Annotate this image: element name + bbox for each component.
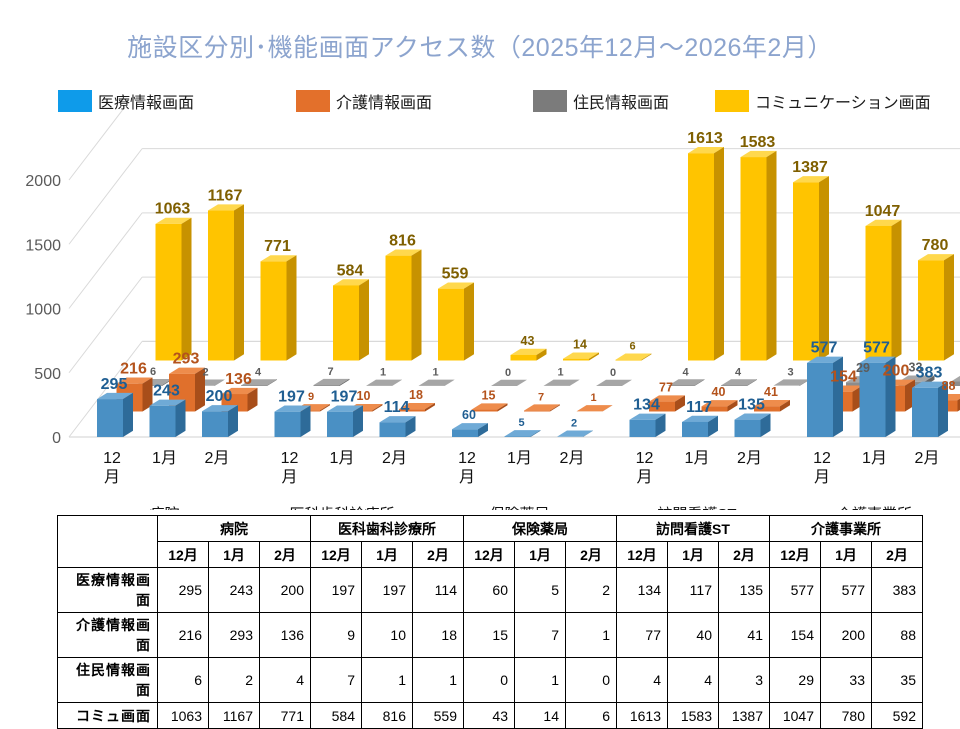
svg-text:577: 577 — [811, 340, 838, 357]
table-cell: 243 — [209, 568, 260, 613]
svg-text:584: 584 — [337, 262, 364, 279]
table-cell: 3 — [719, 658, 770, 703]
table-row: 介護情報画面21629313691018157177404115420088 — [58, 613, 923, 658]
svg-text:1387: 1387 — [792, 159, 828, 176]
svg-text:14: 14 — [573, 338, 587, 352]
table-cell: 559 — [413, 703, 464, 729]
svg-text:1月: 1月 — [507, 450, 532, 467]
svg-text:2月: 2月 — [205, 450, 230, 467]
legend-swatch-medical — [58, 90, 92, 112]
svg-text:1063: 1063 — [155, 201, 191, 218]
svg-text:2: 2 — [202, 367, 208, 379]
svg-text:12: 12 — [458, 450, 476, 467]
table-cell: 2 — [209, 658, 260, 703]
chart-group-labels: 病院医科歯科診療所保険薬局訪問看護ST介護事業所 — [149, 505, 912, 510]
table-cell: 592 — [872, 703, 923, 729]
table-cell: 0 — [464, 658, 515, 703]
table-cell: 18 — [413, 613, 464, 658]
table-cell: 1047 — [770, 703, 821, 729]
data-table: 病院医科歯科診療所保険薬局訪問看護ST介護事業所 12月1月2月12月1月2月1… — [57, 515, 923, 729]
svg-text:月: 月 — [814, 469, 830, 486]
table-cell: 577 — [821, 568, 872, 613]
table-cell: 5 — [515, 568, 566, 613]
table-group-header: 訪問看護ST — [617, 516, 770, 542]
svg-text:29: 29 — [856, 361, 870, 375]
table-cell: 0 — [566, 658, 617, 703]
table-cell: 1 — [566, 613, 617, 658]
svg-text:134: 134 — [633, 397, 660, 414]
bar-3d — [333, 279, 369, 360]
bar-3d — [735, 413, 771, 437]
svg-text:1月: 1月 — [152, 450, 177, 467]
group-label: 訪問看護ST — [657, 506, 736, 510]
table-cell: 154 — [770, 613, 821, 658]
svg-text:41: 41 — [764, 385, 778, 399]
table-cell: 114 — [413, 568, 464, 613]
svg-text:5: 5 — [518, 417, 524, 429]
svg-text:9: 9 — [308, 391, 314, 403]
svg-text:2月: 2月 — [737, 450, 762, 467]
table-cell: 383 — [872, 568, 923, 613]
table-cell: 77 — [617, 613, 668, 658]
svg-text:1500: 1500 — [25, 237, 61, 254]
table-body: 医療情報画面2952432001971971146052134117135577… — [58, 568, 923, 729]
bar-3d — [774, 379, 810, 386]
svg-text:117: 117 — [686, 399, 712, 416]
table-cell: 43 — [464, 703, 515, 729]
table-month-header: 1月 — [209, 542, 260, 568]
table-cell: 4 — [260, 658, 311, 703]
table-cell: 1387 — [719, 703, 770, 729]
group-label: 医科歯科診療所 — [289, 506, 394, 510]
table-row: 住民情報画面624711010443293335 — [58, 658, 923, 703]
table-month-header: 2月 — [260, 542, 311, 568]
svg-text:6: 6 — [150, 366, 156, 378]
bar-3d — [472, 403, 508, 411]
bar-3d — [596, 380, 632, 386]
table-cell: 1 — [413, 658, 464, 703]
bar-3d — [491, 380, 527, 386]
bar-3d — [630, 414, 666, 437]
bar-3d — [419, 380, 455, 386]
bar-3d — [577, 405, 613, 411]
svg-text:136: 136 — [225, 371, 252, 388]
table-cell: 771 — [260, 703, 311, 729]
bar-3d — [511, 349, 547, 361]
table-row: コミュ画面10631167771584816559431461613158313… — [58, 703, 923, 729]
svg-text:15: 15 — [482, 388, 496, 402]
svg-text:197: 197 — [278, 388, 305, 405]
bar-3d — [261, 255, 297, 360]
table-cell: 135 — [719, 568, 770, 613]
chart-category-labels: 12月1月2月12月1月2月12月1月2月12月1月2月12月1月2月 — [103, 450, 939, 486]
svg-text:1: 1 — [380, 367, 386, 379]
table-cell: 1613 — [617, 703, 668, 729]
svg-text:43: 43 — [521, 334, 535, 348]
svg-text:7: 7 — [327, 366, 333, 378]
svg-text:12: 12 — [813, 450, 831, 467]
svg-text:40: 40 — [712, 385, 726, 399]
svg-text:18: 18 — [409, 388, 423, 402]
svg-text:0: 0 — [610, 367, 616, 379]
table-cell: 1167 — [209, 703, 260, 729]
legend-swatch-comm — [715, 90, 749, 112]
svg-text:月: 月 — [104, 469, 120, 486]
svg-text:577: 577 — [863, 340, 890, 357]
svg-text:780: 780 — [922, 237, 949, 254]
table-cell: 577 — [770, 568, 821, 613]
svg-text:88: 88 — [942, 379, 956, 393]
table-row: 医療情報画面2952432001971971146052134117135577… — [58, 568, 923, 613]
table-month-header: 1月 — [515, 542, 566, 568]
table-cell: 197 — [362, 568, 413, 613]
svg-text:771: 771 — [264, 238, 291, 255]
table-cell: 88 — [872, 613, 923, 658]
svg-text:200: 200 — [206, 388, 233, 405]
table-cell: 216 — [158, 613, 209, 658]
svg-text:2000: 2000 — [25, 173, 61, 190]
chart-page: 施設区分別･機能画面アクセス数（2025年12月～2026年2月） 医療情報画面… — [0, 0, 960, 720]
svg-text:1000: 1000 — [25, 302, 61, 319]
svg-text:月: 月 — [636, 469, 652, 486]
bar-3d — [741, 151, 777, 361]
svg-text:4: 4 — [255, 366, 262, 378]
table-cell: 35 — [872, 658, 923, 703]
svg-text:12: 12 — [103, 450, 121, 467]
table-cell: 14 — [515, 703, 566, 729]
svg-text:295: 295 — [101, 376, 128, 393]
svg-text:2: 2 — [571, 418, 577, 430]
table-row-label: 介護情報画面 — [58, 613, 158, 658]
bar-3d — [386, 249, 422, 360]
svg-text:1月: 1月 — [330, 450, 355, 467]
table-cell: 10 — [362, 613, 413, 658]
bar-3d — [327, 405, 363, 437]
svg-text:4: 4 — [682, 366, 689, 378]
svg-text:2月: 2月 — [560, 450, 585, 467]
table-month-header: 12月 — [770, 542, 821, 568]
table-row-label: コミュ画面 — [58, 703, 158, 729]
table-cell: 40 — [668, 613, 719, 658]
bar-3d — [97, 393, 133, 437]
svg-text:4: 4 — [735, 366, 742, 378]
svg-text:1: 1 — [590, 392, 596, 404]
bar-3d — [150, 400, 186, 437]
table-cell: 1 — [515, 658, 566, 703]
table-cell: 816 — [362, 703, 413, 729]
table-month-header: 2月 — [413, 542, 464, 568]
svg-text:1月: 1月 — [685, 450, 710, 467]
svg-text:2月: 2月 — [382, 450, 407, 467]
table-cell: 584 — [311, 703, 362, 729]
svg-text:77: 77 — [659, 380, 673, 394]
table-cell: 4 — [617, 658, 668, 703]
table-month-header: 2月 — [566, 542, 617, 568]
bar-chart-3d: 0500100015002000 10631167771584816559431… — [0, 110, 960, 510]
table-cell: 7 — [311, 658, 362, 703]
table-cell: 117 — [668, 568, 719, 613]
bar-3d — [918, 254, 954, 360]
svg-text:383: 383 — [916, 365, 943, 382]
table-row-label: 住民情報画面 — [58, 658, 158, 703]
svg-text:559: 559 — [442, 265, 469, 282]
page-title: 施設区分別･機能画面アクセス数（2025年12月～2026年2月） — [0, 28, 960, 64]
svg-text:243: 243 — [153, 383, 180, 400]
bar-3d — [202, 405, 238, 437]
table-header-months: 12月1月2月12月1月2月12月1月2月12月1月2月12月1月2月 — [58, 542, 923, 568]
bar-3d — [563, 353, 599, 361]
svg-text:3: 3 — [787, 366, 793, 378]
bar-3d — [314, 379, 350, 386]
svg-text:1613: 1613 — [687, 130, 723, 147]
table-cell: 6 — [566, 703, 617, 729]
table-cell: 780 — [821, 703, 872, 729]
svg-text:1月: 1月 — [862, 450, 887, 467]
bar-3d — [366, 380, 402, 386]
bar-3d — [669, 379, 705, 386]
table-cell: 197 — [311, 568, 362, 613]
table-corner-cell — [58, 516, 158, 568]
svg-text:500: 500 — [34, 366, 61, 383]
table-cell: 6 — [158, 658, 209, 703]
table-group-header: 医科歯科診療所 — [311, 516, 464, 542]
bar-3d — [524, 404, 560, 411]
table-cell: 29 — [770, 658, 821, 703]
svg-text:月: 月 — [281, 469, 297, 486]
table-month-header: 12月 — [158, 542, 209, 568]
table-cell: 1 — [362, 658, 413, 703]
table-cell: 293 — [209, 613, 260, 658]
bar-3d — [682, 416, 718, 437]
bar-3d — [452, 423, 488, 437]
table-cell: 9 — [311, 613, 362, 658]
table-month-header: 2月 — [872, 542, 923, 568]
svg-text:10: 10 — [357, 389, 371, 403]
svg-text:1: 1 — [557, 367, 563, 379]
table-header-groups: 病院医科歯科診療所保険薬局訪問看護ST介護事業所 — [58, 516, 923, 542]
svg-text:12: 12 — [636, 450, 654, 467]
svg-text:1583: 1583 — [740, 134, 776, 151]
svg-text:154: 154 — [830, 369, 857, 386]
svg-text:2月: 2月 — [915, 450, 940, 467]
bar-3d — [156, 218, 192, 361]
table-cell: 134 — [617, 568, 668, 613]
svg-text:135: 135 — [738, 396, 765, 413]
bar-3d — [688, 147, 724, 360]
svg-text:197: 197 — [331, 388, 358, 405]
bar-3d — [380, 416, 416, 437]
bar-3d — [557, 431, 593, 437]
svg-text:6: 6 — [629, 341, 635, 353]
table-cell: 4 — [668, 658, 719, 703]
table-cell: 200 — [821, 613, 872, 658]
table-cell: 33 — [821, 658, 872, 703]
svg-text:200: 200 — [883, 363, 910, 380]
bar-3d — [208, 204, 244, 360]
legend-swatch-care — [296, 90, 330, 112]
table-cell: 1063 — [158, 703, 209, 729]
bar-3d — [616, 354, 652, 361]
table-row-label: 医療情報画面 — [58, 568, 158, 613]
table-group-header: 病院 — [158, 516, 311, 542]
svg-text:12: 12 — [281, 450, 299, 467]
bar-3d — [505, 430, 541, 437]
bar-3d — [544, 380, 580, 386]
svg-text:114: 114 — [384, 399, 410, 416]
bar-3d — [793, 176, 829, 360]
table-month-header: 1月 — [362, 542, 413, 568]
table-cell: 136 — [260, 613, 311, 658]
svg-text:60: 60 — [462, 408, 476, 422]
table-cell: 41 — [719, 613, 770, 658]
table-month-header: 12月 — [311, 542, 362, 568]
table-month-header: 1月 — [821, 542, 872, 568]
table-month-header: 2月 — [719, 542, 770, 568]
svg-text:1167: 1167 — [208, 187, 243, 204]
table-cell: 1583 — [668, 703, 719, 729]
table-month-header: 12月 — [464, 542, 515, 568]
svg-text:0: 0 — [505, 367, 511, 379]
svg-text:1047: 1047 — [865, 203, 901, 220]
table-cell: 2 — [566, 568, 617, 613]
bar-3d — [438, 282, 474, 360]
table-group-header: 保険薬局 — [464, 516, 617, 542]
group-label: 病院 — [149, 505, 179, 510]
chart-y-axis-ticks: 0500100015002000 — [25, 173, 61, 447]
bar-3d — [721, 379, 757, 386]
svg-text:1: 1 — [432, 367, 438, 379]
group-label: 保険薬局 — [489, 506, 549, 510]
table-group-header: 介護事業所 — [770, 516, 923, 542]
svg-text:293: 293 — [173, 351, 200, 368]
table-cell: 7 — [515, 613, 566, 658]
svg-text:7: 7 — [538, 391, 544, 403]
table-cell: 60 — [464, 568, 515, 613]
table-month-header: 1月 — [668, 542, 719, 568]
table-cell: 295 — [158, 568, 209, 613]
legend-swatch-resident — [533, 90, 567, 112]
svg-text:816: 816 — [389, 232, 416, 249]
table-cell: 15 — [464, 613, 515, 658]
table-month-header: 12月 — [617, 542, 668, 568]
group-label: 介護事業所 — [837, 506, 912, 510]
svg-text:0: 0 — [52, 430, 61, 447]
table-cell: 200 — [260, 568, 311, 613]
svg-text:月: 月 — [459, 469, 475, 486]
bar-3d — [275, 405, 311, 437]
